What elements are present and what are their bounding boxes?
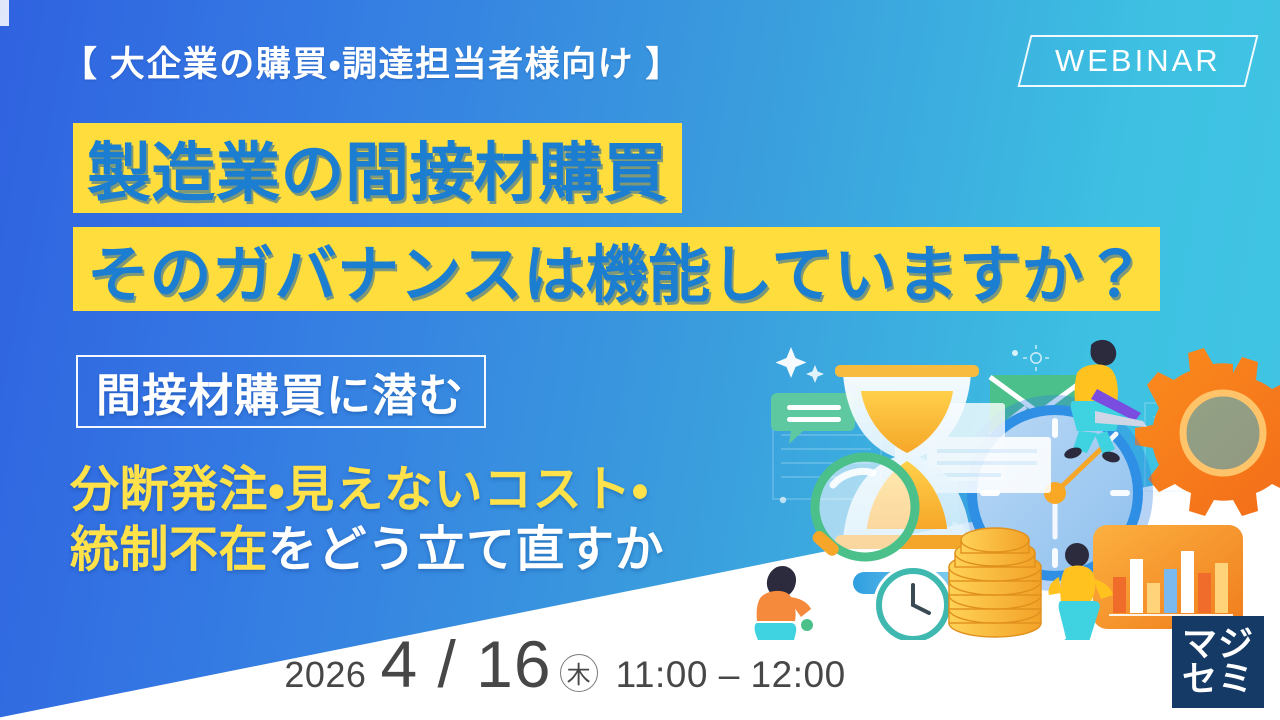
small-gear-icon — [1023, 345, 1049, 371]
procurement-illustration — [745, 325, 1280, 640]
title-band-1: 製造業の間接材購買 — [73, 123, 682, 213]
logo-line-bottom: セミ — [1182, 662, 1254, 697]
title-band-2: そのガバナンスは機能していますか？ — [73, 227, 1160, 311]
title-line-2: そのガバナンスは機能していますか？ — [87, 224, 1146, 314]
title-line-1: 製造業の間接材購買 — [87, 122, 668, 214]
schedule-bar: 2026 4 / 16 木 11:00 – 12:00 — [0, 626, 1130, 702]
coin-stack-icon — [949, 528, 1041, 640]
webinar-banner: 【 大企業の購買・調達担当者様向け 】 WEBINAR 製造業の間接材購買 その… — [0, 0, 1280, 720]
schedule-month-day: 4 / 16 — [380, 626, 551, 702]
schedule-year: 2026 — [284, 654, 366, 696]
lead-line-2-rest: をどう立て直すか — [268, 523, 664, 577]
bar-chart-panel — [1093, 525, 1243, 629]
corner-notch — [0, 0, 9, 26]
eyebrow-text: 【 大企業の購買・調達担当者様向け 】 — [62, 36, 682, 87]
chat-bubble-icon — [771, 393, 855, 444]
subtitle-box: 間接材購買に潜む — [76, 355, 486, 428]
majisemi-logo: マジ セミ — [1172, 616, 1264, 708]
magnifying-glass-icon — [810, 457, 915, 558]
schedule-time-range: 11:00 – 12:00 — [616, 654, 846, 696]
lead-line-2: 統制不在をどう立て直すか — [70, 510, 664, 581]
subtitle-text: 間接材購買に潜む — [96, 359, 464, 424]
lead-line-2-highlight: 統制不在 — [70, 523, 268, 577]
schedule-day-of-week: 木 — [560, 654, 598, 692]
logo-line-top: マジ — [1182, 627, 1254, 662]
webinar-badge-label: WEBINAR — [1055, 43, 1221, 79]
webinar-badge: WEBINAR — [1018, 35, 1259, 87]
